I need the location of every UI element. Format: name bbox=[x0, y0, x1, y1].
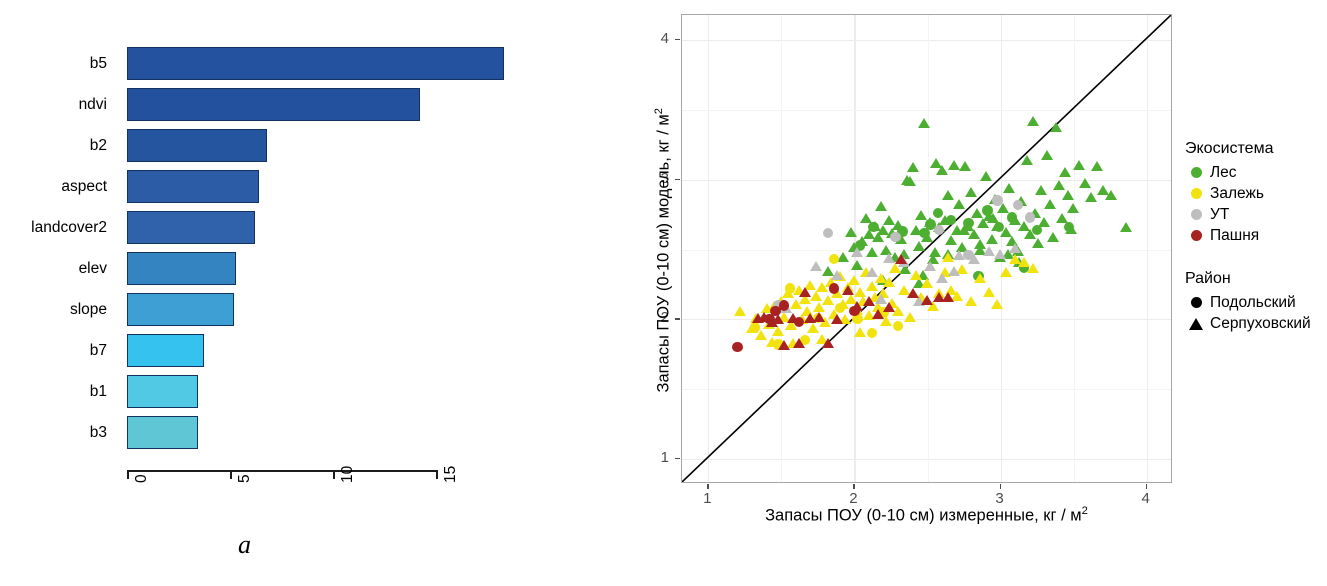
bar-b7 bbox=[127, 334, 204, 367]
data-point-triangle bbox=[1021, 155, 1033, 165]
legend-label: Пашня bbox=[1207, 227, 1259, 245]
figure-root: b5ndvib2aspectlandcover2elevslopeb7b1b3 … bbox=[0, 0, 1327, 586]
legend-entry[interactable]: УТ bbox=[1185, 204, 1327, 225]
legend-circle-icon bbox=[1191, 167, 1202, 178]
data-point-triangle bbox=[1056, 213, 1068, 223]
legend-title-ecosystem: Экосистема bbox=[1185, 140, 1327, 158]
data-point-triangle bbox=[895, 254, 907, 264]
data-point-triangle bbox=[875, 201, 887, 211]
scatter-legend: ЭкосистемаЛесЗалежьУТПашняРайонПодольски… bbox=[1185, 140, 1327, 334]
data-point-circle bbox=[982, 205, 992, 215]
bar-b1 bbox=[127, 375, 198, 408]
data-point-triangle bbox=[1120, 222, 1132, 232]
data-point-triangle bbox=[1044, 199, 1056, 209]
legend-label: Залежь bbox=[1207, 185, 1264, 203]
data-point-triangle bbox=[831, 270, 843, 280]
data-point-triangle bbox=[1091, 161, 1103, 171]
data-point-circle bbox=[992, 195, 1002, 205]
data-point-triangle bbox=[1067, 203, 1079, 213]
data-point-circle bbox=[1032, 225, 1042, 235]
data-point-triangle bbox=[980, 171, 992, 181]
data-point-triangle bbox=[994, 249, 1006, 259]
data-point-triangle bbox=[831, 314, 843, 324]
data-point-circle bbox=[835, 303, 845, 313]
gridline-vertical bbox=[708, 15, 709, 482]
data-point-triangle bbox=[907, 162, 919, 172]
scatter-x-tick-mark bbox=[707, 484, 708, 489]
legend-circle-icon bbox=[1191, 230, 1202, 241]
legend-entry[interactable]: Пашня bbox=[1185, 225, 1327, 246]
bar-x-tick-label: 15 bbox=[442, 466, 460, 483]
data-point-triangle bbox=[974, 273, 986, 283]
data-point-triangle bbox=[910, 270, 922, 280]
gridline-vertical-minor bbox=[1074, 15, 1075, 482]
data-point-circle bbox=[829, 283, 839, 293]
legend-spacer bbox=[1185, 246, 1327, 270]
legend-circle-icon bbox=[1191, 209, 1202, 220]
data-point-triangle bbox=[1003, 183, 1015, 193]
data-point-circle bbox=[934, 225, 944, 235]
data-point-circle bbox=[893, 321, 903, 331]
data-point-triangle bbox=[1027, 116, 1039, 126]
data-point-triangle bbox=[968, 229, 980, 239]
gridline-horizontal bbox=[682, 459, 1171, 460]
data-point-triangle bbox=[1050, 122, 1062, 132]
scatter-y-tick-mark bbox=[675, 179, 680, 180]
data-point-triangle bbox=[953, 199, 965, 209]
data-point-circle bbox=[1025, 212, 1035, 222]
data-point-triangle bbox=[942, 190, 954, 200]
data-point-triangle bbox=[807, 323, 819, 333]
identity-reference-line bbox=[682, 15, 1171, 482]
scatter-x-tick-mark bbox=[1146, 484, 1147, 489]
data-point-triangle bbox=[1059, 167, 1071, 177]
data-point-triangle bbox=[1047, 232, 1059, 242]
bar-landcover2 bbox=[127, 211, 255, 244]
legend-label: Лес bbox=[1207, 164, 1237, 182]
legend-label: Подольский bbox=[1207, 294, 1296, 312]
data-point-triangle bbox=[872, 309, 884, 319]
data-point-triangle bbox=[904, 312, 916, 322]
bar-label-b5: b5 bbox=[0, 47, 107, 80]
panel-a-bar-chart: b5ndvib2aspectlandcover2elevslopeb7b1b3 … bbox=[0, 0, 560, 586]
data-point-circle bbox=[779, 300, 789, 310]
legend-key bbox=[1185, 230, 1207, 241]
scatter-y-tick-mark bbox=[675, 318, 680, 319]
data-point-triangle bbox=[929, 247, 941, 257]
data-point-triangle bbox=[822, 338, 834, 348]
caption-a: а bbox=[238, 530, 251, 560]
legend-key bbox=[1185, 209, 1207, 220]
data-point-triangle bbox=[959, 161, 971, 171]
data-point-triangle bbox=[1073, 160, 1085, 170]
data-point-triangle bbox=[1035, 185, 1047, 195]
data-point-triangle bbox=[799, 287, 811, 297]
data-point-triangle bbox=[813, 312, 825, 322]
bar-b5 bbox=[127, 47, 504, 80]
scatter-y-tick-mark bbox=[675, 39, 680, 40]
data-point-circle bbox=[963, 250, 973, 260]
data-point-triangle bbox=[1053, 180, 1065, 190]
data-point-triangle bbox=[854, 327, 866, 337]
data-point-triangle bbox=[778, 340, 790, 350]
data-point-circle bbox=[868, 222, 878, 232]
data-point-circle bbox=[785, 283, 795, 293]
data-point-triangle bbox=[1062, 190, 1074, 200]
legend-entry[interactable]: Подольский bbox=[1185, 292, 1327, 313]
data-point-triangle bbox=[971, 208, 983, 218]
data-point-triangle bbox=[883, 277, 895, 287]
data-point-triangle bbox=[924, 261, 936, 271]
data-point-triangle bbox=[883, 253, 895, 263]
bar-elev bbox=[127, 252, 236, 285]
data-point-triangle bbox=[793, 338, 805, 348]
data-point-triangle bbox=[942, 252, 954, 262]
data-point-circle bbox=[849, 306, 859, 316]
data-point-triangle bbox=[1032, 238, 1044, 248]
data-point-triangle bbox=[983, 246, 995, 256]
data-point-triangle bbox=[883, 302, 895, 312]
bar-x-tick bbox=[230, 470, 232, 479]
data-point-triangle bbox=[904, 176, 916, 186]
data-point-triangle bbox=[942, 292, 954, 302]
data-point-triangle bbox=[948, 160, 960, 170]
data-point-circle bbox=[794, 317, 804, 327]
data-point-circle bbox=[732, 342, 742, 352]
data-point-triangle bbox=[734, 306, 746, 316]
bar-x-tick bbox=[333, 470, 335, 479]
data-point-triangle bbox=[983, 287, 995, 297]
bar-x-tick-label: 0 bbox=[133, 474, 151, 483]
data-point-circle bbox=[963, 218, 973, 228]
data-point-triangle bbox=[921, 278, 933, 288]
data-point-triangle bbox=[1009, 243, 1021, 253]
data-point-triangle bbox=[810, 261, 822, 271]
data-point-triangle bbox=[948, 266, 960, 276]
bar-x-tick bbox=[436, 470, 438, 479]
data-point-triangle bbox=[1000, 267, 1012, 277]
gridline-horizontal bbox=[682, 180, 1171, 181]
bar-x-tick-label: 10 bbox=[339, 466, 357, 483]
legend-entry[interactable]: Залежь bbox=[1185, 183, 1327, 204]
legend-entry[interactable]: Серпуховский bbox=[1185, 313, 1327, 334]
data-point-triangle bbox=[1027, 263, 1039, 273]
data-point-circle bbox=[890, 232, 900, 242]
data-point-triangle bbox=[965, 296, 977, 306]
bar-b3 bbox=[127, 416, 198, 449]
data-point-circle bbox=[946, 215, 956, 225]
gridline-horizontal-minor bbox=[682, 110, 1171, 111]
data-point-triangle bbox=[866, 247, 878, 257]
gridline-vertical-minor bbox=[781, 15, 782, 482]
gridline-horizontal-minor bbox=[682, 389, 1171, 390]
scatter-x-tick-mark bbox=[1000, 484, 1001, 489]
bar-label-b3: b3 bbox=[0, 416, 107, 449]
data-point-circle bbox=[1013, 200, 1023, 210]
data-point-triangle bbox=[936, 165, 948, 175]
legend-label: УТ bbox=[1207, 206, 1229, 224]
bar-x-tick bbox=[127, 470, 129, 479]
data-point-circle bbox=[867, 328, 877, 338]
bar-label-b2: b2 bbox=[0, 129, 107, 162]
data-point-triangle bbox=[848, 275, 860, 285]
bar-ndvi bbox=[127, 88, 420, 121]
scatter-plot-area bbox=[681, 14, 1172, 483]
data-point-triangle bbox=[965, 187, 977, 197]
data-point-triangle bbox=[986, 234, 998, 244]
data-point-triangle bbox=[945, 235, 957, 245]
bar-label-b7: b7 bbox=[0, 334, 107, 367]
gridline-horizontal-minor bbox=[682, 250, 1171, 251]
legend-triangle-icon bbox=[1189, 318, 1203, 330]
data-point-circle bbox=[829, 254, 839, 264]
data-point-triangle bbox=[866, 267, 878, 277]
data-point-triangle bbox=[854, 287, 866, 297]
legend-key bbox=[1185, 318, 1207, 330]
data-point-triangle bbox=[845, 227, 857, 237]
bar-aspect bbox=[127, 170, 259, 203]
data-point-triangle bbox=[1085, 192, 1097, 202]
bar-label-elev: elev bbox=[0, 252, 107, 285]
data-point-triangle bbox=[851, 247, 863, 257]
legend-title-district: Район bbox=[1185, 270, 1327, 288]
legend-circle-icon bbox=[1191, 188, 1202, 199]
data-point-triangle bbox=[918, 118, 930, 128]
gridline-horizontal bbox=[682, 40, 1171, 41]
data-point-triangle bbox=[752, 313, 764, 323]
data-point-triangle bbox=[863, 296, 875, 306]
bar-slope bbox=[127, 293, 234, 326]
bar-b2 bbox=[127, 129, 267, 162]
panel-b-scatter-chart: 1234 1234 Запасы ПОУ (0-10 см) измеренны… bbox=[560, 0, 1327, 586]
legend-entry[interactable]: Лес bbox=[1185, 162, 1327, 183]
data-point-triangle bbox=[907, 288, 919, 298]
data-point-circle bbox=[1007, 212, 1017, 222]
bar-label-ndvi: ndvi bbox=[0, 88, 107, 121]
legend-key bbox=[1185, 167, 1207, 178]
bar-label-landcover2: landcover2 bbox=[0, 211, 107, 244]
bar-category-labels: b5ndvib2aspectlandcover2elevslopeb7b1b3 bbox=[0, 47, 107, 458]
scatter-x-tick-mark bbox=[853, 484, 854, 489]
data-point-triangle bbox=[991, 299, 1003, 309]
bar-label-b1: b1 bbox=[0, 375, 107, 408]
legend-circle-icon bbox=[1191, 297, 1202, 308]
data-point-triangle bbox=[842, 285, 854, 295]
legend-label: Серпуховский bbox=[1207, 315, 1311, 333]
data-point-circle bbox=[823, 228, 833, 238]
data-point-triangle bbox=[1105, 190, 1117, 200]
legend-key bbox=[1185, 188, 1207, 199]
bar-label-aspect: aspect bbox=[0, 170, 107, 203]
bar-label-slope: slope bbox=[0, 293, 107, 326]
bar-x-axis-line bbox=[127, 470, 437, 472]
legend-key bbox=[1185, 297, 1207, 308]
bar-plot-area bbox=[127, 47, 537, 458]
bar-x-tick-label: 5 bbox=[236, 474, 254, 483]
gridline-vertical bbox=[1147, 15, 1148, 482]
data-point-triangle bbox=[921, 295, 933, 305]
data-point-triangle bbox=[1079, 178, 1091, 188]
data-point-triangle bbox=[936, 273, 948, 283]
data-point-circle bbox=[750, 322, 760, 332]
scatter-y-axis-label: Запасы ПОУ (0-10 см) модель, кг / м2 bbox=[653, 15, 674, 485]
scatter-x-axis-label: Запасы ПОУ (0-10 см) измеренные, кг / м2 bbox=[681, 505, 1172, 526]
data-point-triangle bbox=[1041, 150, 1053, 160]
scatter-y-tick-mark bbox=[675, 458, 680, 459]
